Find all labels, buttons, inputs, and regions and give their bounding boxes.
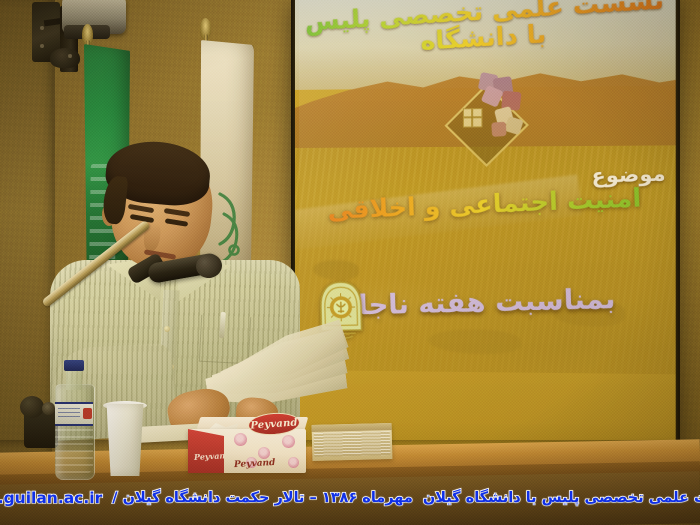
foam-cup (105, 404, 145, 476)
caption-date-venue: مهرماه ۱۳۸۶ – تالار حکمت دانشگاه گیلان / (112, 490, 413, 506)
mount-screw (68, 54, 72, 58)
flower-pattern-icon (234, 433, 247, 446)
label-text-lines (58, 408, 80, 420)
caption-website-url: www.guilan.ac.ir (0, 489, 102, 507)
bottle-neck (66, 368, 82, 390)
book (312, 423, 393, 461)
mount-screw (40, 26, 44, 30)
flower-pattern-icon (282, 435, 295, 448)
tissue-brand-label: Peyvand (250, 417, 298, 431)
photograph: نشست علمی تخصصی پلیس با دانشگاه موضوع ام… (0, 0, 700, 525)
tissue-brand-text: Peyvand (234, 458, 276, 470)
flower-pattern-icon (258, 447, 270, 459)
bottle-cap (64, 360, 84, 371)
water-bottle (55, 360, 93, 478)
tissue-box: Peyvand Peyvand Peyvand (188, 417, 310, 475)
mount-joint (50, 48, 80, 68)
screen-surface: نشست علمی تخصصی پلیس با دانشگاه موضوع ام… (295, 0, 676, 460)
shirt-button (164, 326, 170, 332)
flower-pattern-icon (288, 457, 299, 468)
stand-knob (20, 396, 44, 418)
caption-event-title: نشست علمی تخصصی پلیس با دانشگاه گیلان (423, 490, 700, 506)
bottle-label (55, 402, 93, 426)
stand-ring (42, 402, 55, 415)
mount-screw (40, 44, 44, 48)
projected-slide: نشست علمی تخصصی پلیس با دانشگاه موضوع ام… (295, 0, 676, 374)
photo-caption: نشست علمی تخصصی پلیس با دانشگاه گیلان مه… (0, 484, 700, 512)
bottle-ribs (55, 422, 93, 474)
tissue-box-side-panel: Peyvand (188, 429, 224, 473)
book-pages (314, 431, 391, 457)
label-accent (83, 408, 92, 419)
